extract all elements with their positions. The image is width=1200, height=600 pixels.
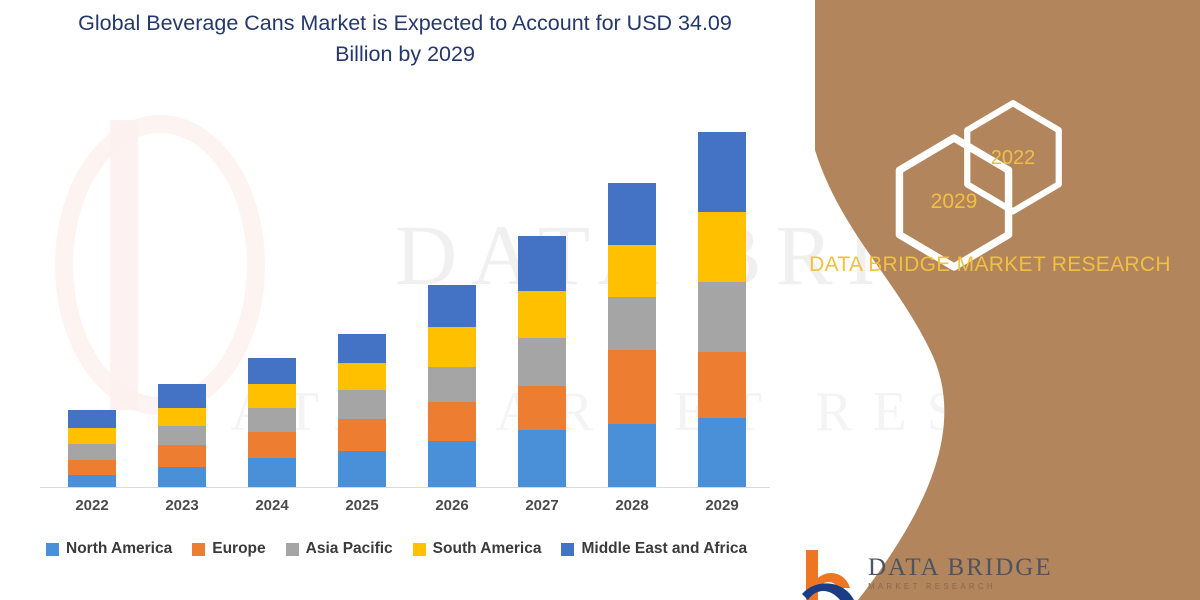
legend-swatch-icon [413, 543, 426, 556]
x-axis-label-2028: 2028 [592, 497, 672, 514]
bar-segment [608, 424, 656, 487]
legend-label: Middle East and Africa [581, 540, 747, 558]
bar-segment [248, 358, 296, 384]
bar-segment [68, 475, 116, 487]
bar-2024 [248, 358, 296, 487]
legend-item-north-america[interactable]: North America [46, 540, 172, 558]
brand-name: DATA BRIDGE MARKET RESEARCH [800, 250, 1180, 280]
legend-item-middle-east-and-africa[interactable]: Middle East and Africa [561, 540, 747, 558]
bar-segment [248, 384, 296, 408]
x-axis-label-2024: 2024 [232, 497, 312, 514]
bridge-logo-icon [800, 548, 856, 600]
bar-2023 [158, 384, 206, 487]
legend-label: Europe [212, 540, 265, 558]
x-axis-line [40, 487, 770, 488]
legend-label: North America [66, 540, 172, 558]
infographic-canvas: DATA BRIDGE DATA MARKET RESEARCH Global … [0, 0, 1200, 600]
bar-2022 [68, 410, 116, 487]
bar-2025 [338, 334, 386, 487]
bar-segment [68, 460, 116, 475]
panel-heading: Regions, 2022 to 2029 [820, 0, 1180, 3]
legend-swatch-icon [46, 543, 59, 556]
bar-2029 [698, 132, 746, 487]
bar-2027 [518, 236, 566, 487]
legend-swatch-icon [192, 543, 205, 556]
legend-swatch-icon [286, 543, 299, 556]
bar-segment [428, 441, 476, 487]
bar-segment [158, 467, 206, 487]
bar-segment [158, 408, 206, 426]
hexagon-badge-2022: 2022 [961, 99, 1065, 217]
bar-segment [698, 212, 746, 282]
x-axis-label-2029: 2029 [682, 497, 762, 514]
bar-segment [248, 408, 296, 432]
x-axis-label-2023: 2023 [142, 497, 222, 514]
bar-segment [518, 338, 566, 386]
bar-segment [518, 430, 566, 487]
bar-segment [158, 384, 206, 408]
stacked-bar-chart: 20222023202420252026202720282029 [0, 0, 800, 600]
bar-segment [68, 410, 116, 428]
bar-segment [338, 390, 386, 419]
company-logo: DATA BRIDGE MARKET RESEARCH [800, 548, 1053, 600]
legend-swatch-icon [561, 543, 574, 556]
x-axis-label-2022: 2022 [52, 497, 132, 514]
legend-item-asia-pacific[interactable]: Asia Pacific [286, 540, 393, 558]
logo-tagline: MARKET RESEARCH [868, 582, 1053, 591]
bar-segment [68, 428, 116, 444]
x-axis-label-2027: 2027 [502, 497, 582, 514]
bar-segment [518, 386, 566, 430]
brand-panel: Regions, 2022 to 2029 2029 2022 DATA BRI… [780, 0, 1200, 600]
logo-wordmark: DATA BRIDGE [868, 548, 1053, 582]
bar-segment [68, 444, 116, 460]
bar-segment [698, 352, 746, 418]
bar-segment [248, 432, 296, 458]
bar-segment [608, 183, 656, 245]
legend-label: South America [433, 540, 542, 558]
chart-title: Global Beverage Cans Market is Expected … [60, 8, 750, 70]
hexagon-2022-label: 2022 [991, 147, 1036, 170]
bar-segment [248, 458, 296, 487]
bar-segment [428, 402, 476, 441]
bar-segment [608, 245, 656, 297]
bar-segment [608, 350, 656, 424]
bar-2026 [428, 285, 476, 487]
bar-segment [338, 363, 386, 390]
bar-segment [698, 282, 746, 352]
bar-segment [428, 285, 476, 327]
x-axis-label-2025: 2025 [322, 497, 402, 514]
bar-segment [158, 445, 206, 467]
x-axis-label-2026: 2026 [412, 497, 492, 514]
bar-segment [698, 132, 746, 212]
legend-label: Asia Pacific [306, 540, 393, 558]
bar-segment [338, 451, 386, 487]
bar-segment [608, 297, 656, 350]
bar-segment [698, 418, 746, 487]
bar-segment [518, 291, 566, 338]
bar-segment [338, 419, 386, 451]
bar-segment [428, 327, 476, 367]
bar-segment [518, 236, 566, 291]
chart-legend: North AmericaEuropeAsia PacificSouth Ame… [46, 540, 747, 558]
bar-2028 [608, 183, 656, 487]
bar-segment [428, 367, 476, 402]
bar-segment [158, 426, 206, 445]
bar-segment [338, 334, 386, 363]
legend-item-south-america[interactable]: South America [413, 540, 542, 558]
legend-item-europe[interactable]: Europe [192, 540, 265, 558]
